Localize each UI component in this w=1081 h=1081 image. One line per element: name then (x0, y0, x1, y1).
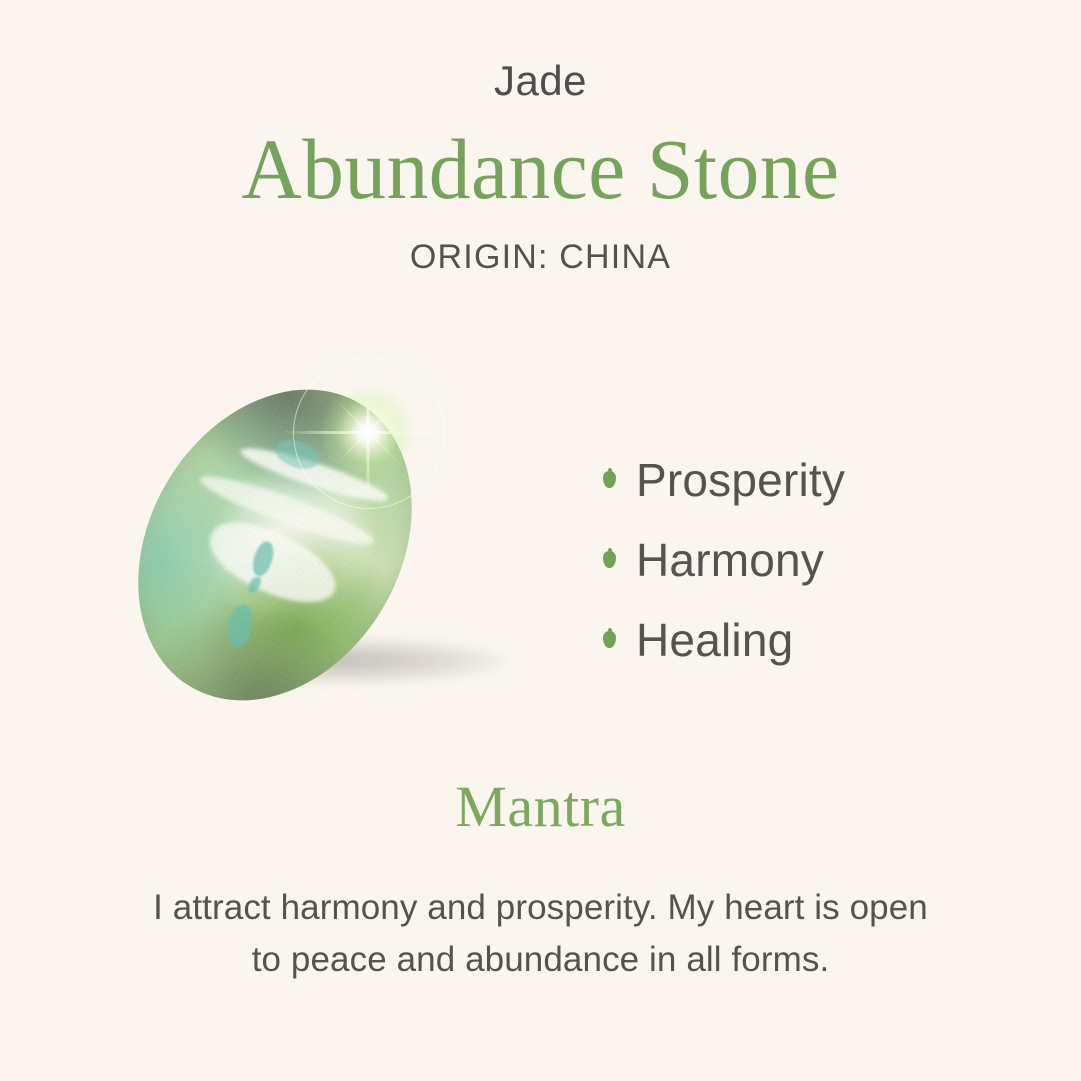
card-header: Jade Abundance Stone ORIGIN: CHINA (0, 0, 1081, 274)
list-item: Harmony (600, 520, 1000, 600)
page-title: Abundance Stone (16, 124, 1065, 214)
list-item: Prosperity (600, 440, 1000, 520)
gem-bullet-icon (600, 468, 620, 492)
list-item: Healing (600, 600, 1000, 680)
gem-bullet-icon (600, 628, 620, 652)
stone-card: Jade Abundance Stone ORIGIN: CHINA Pr (0, 0, 1081, 1081)
gem-bullet-icon (600, 548, 620, 572)
property-label: Harmony (636, 537, 824, 583)
property-label: Healing (636, 617, 793, 663)
property-label: Prosperity (636, 457, 845, 503)
stone-kind-label: Jade (0, 60, 1081, 102)
stone-properties-list: Prosperity Harmony Healing (600, 440, 1000, 680)
mantra-section: Mantra I attract harmony and prosperity.… (0, 778, 1081, 986)
mantra-heading: Mantra (0, 778, 1081, 836)
mantra-text: I attract harmony and prosperity. My hea… (146, 882, 936, 986)
jade-stone-icon (83, 339, 467, 751)
stone-origin-label: ORIGIN: CHINA (0, 240, 1081, 274)
stone-illustration (120, 370, 590, 730)
watercolor-paper-texture (83, 339, 467, 751)
